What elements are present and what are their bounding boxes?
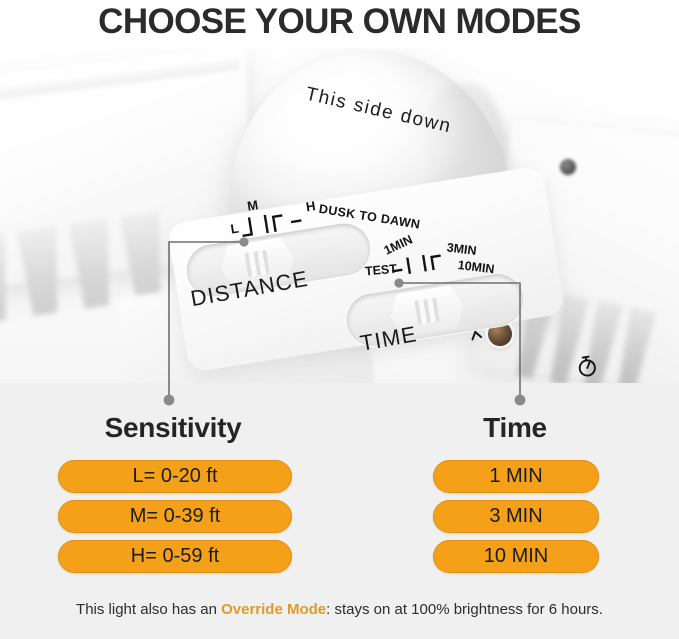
- sensitivity-heading: Sensitivity: [48, 412, 298, 444]
- sensor-dome-assembly: This side down L M H DUSK TO DAWN DISTAN…: [200, 44, 530, 344]
- page-header: CHOOSE YOUR OWN MODES: [0, 0, 679, 48]
- time-heading: Time: [400, 412, 630, 444]
- time-option-10min[interactable]: 10 MIN: [433, 540, 599, 573]
- footer-prefix: This light also has an: [76, 601, 221, 618]
- product-photo: This side down L M H DUSK TO DAWN DISTAN…: [0, 44, 679, 385]
- stopwatch-icon: [574, 352, 599, 379]
- sensitivity-option-high[interactable]: H= 0-59 ft: [58, 540, 292, 573]
- distance-mark-medium: M: [246, 197, 259, 214]
- sensitivity-option-low[interactable]: L= 0-20 ft: [58, 460, 292, 493]
- time-option-1min[interactable]: 1 MIN: [433, 460, 599, 493]
- footer-suffix: : stays on at 100% brightness for 6 hour…: [326, 601, 603, 618]
- override-mode-highlight: Override Mode: [221, 601, 326, 618]
- knob-grip-icon: [414, 298, 439, 325]
- mounting-screw-hole: [560, 159, 576, 175]
- time-option-3min[interactable]: 3 MIN: [433, 500, 599, 533]
- page-title: CHOOSE YOUR OWN MODES: [0, 2, 679, 42]
- sensitivity-option-medium[interactable]: M= 0-39 ft: [58, 500, 292, 533]
- override-mode-note: This light also has an Override Mode: st…: [0, 601, 679, 618]
